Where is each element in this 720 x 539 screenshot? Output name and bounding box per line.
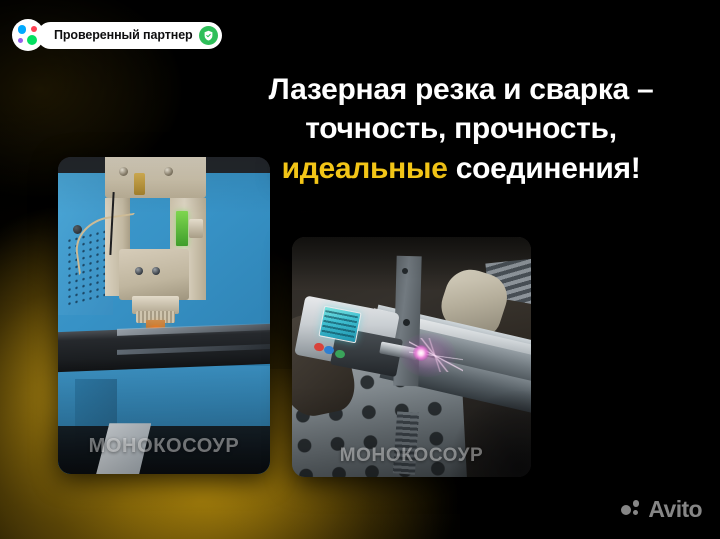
ad-creative-canvas: Проверенный партнер Лазерная резка и сва… (0, 0, 720, 539)
laser-cutting-head-photo-art (58, 157, 270, 474)
laser-welding-photo[interactable]: МОНОКОСОУР (292, 237, 531, 477)
avito-brand-mark: Avito (621, 498, 702, 521)
headline-accent-word: идеальные (282, 152, 448, 185)
avito-dot-green (27, 35, 37, 45)
avito-dot-blue (18, 25, 27, 34)
headline: Лазерная резка и сварка – точность, проч… (255, 70, 667, 188)
headline-line-1: Лазерная резка и сварка – (269, 73, 654, 106)
laser-cutting-head-photo[interactable]: МОНОКОСОУР (58, 157, 270, 474)
shield-check-icon (199, 26, 218, 45)
avito-dots-icon (12, 19, 44, 51)
avito-brand-dot-small (633, 510, 638, 515)
avito-dots-icon (621, 499, 642, 520)
verified-partner-label: Проверенный партнер (54, 28, 193, 42)
avito-dot-purple (18, 38, 23, 43)
laser-welding-photo-art (292, 237, 531, 477)
verified-partner-badge[interactable]: Проверенный партнер (12, 19, 222, 51)
avito-brand-dot-medium (633, 500, 640, 507)
verified-partner-pill[interactable]: Проверенный партнер (37, 22, 222, 49)
avito-dot-red (31, 26, 38, 33)
avito-brand-label: Avito (648, 498, 702, 521)
avito-brand-dot-large (621, 505, 631, 515)
headline-line-2: точность, прочность, (305, 112, 616, 145)
headline-line-3-rest: соединения! (448, 152, 641, 185)
